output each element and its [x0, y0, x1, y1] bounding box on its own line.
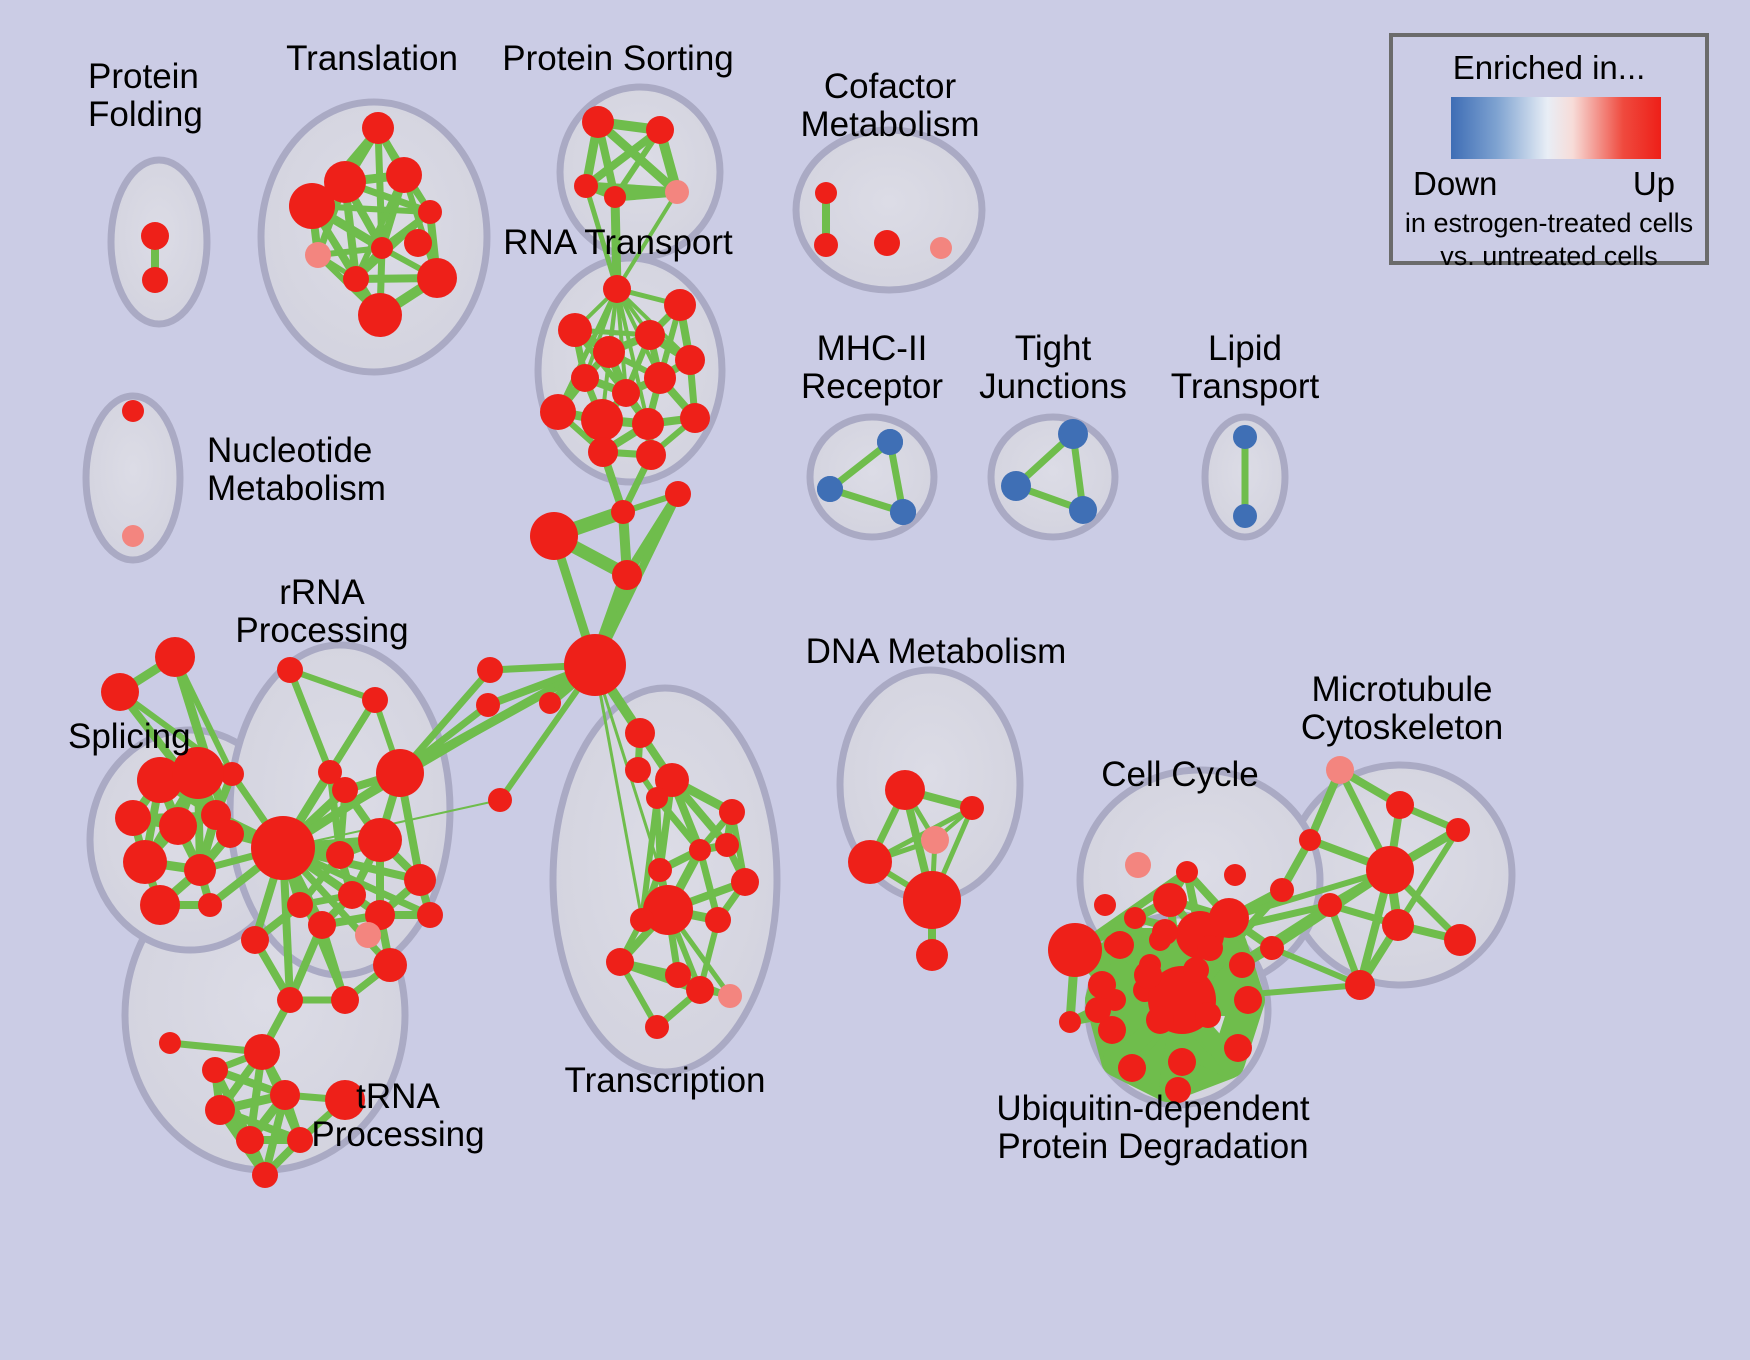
cluster-label-lipid-transport: Lipid Transport [1171, 330, 1319, 406]
cluster-label-rna-transport: RNA Transport [503, 224, 733, 262]
cluster-label-mhc-ii-receptor: MHC-II Receptor [801, 330, 943, 406]
cluster-label-transcription: Transcription [565, 1062, 766, 1100]
cluster-label-dna-metabolism: DNA Metabolism [806, 633, 1067, 671]
legend-up-label: Up [1633, 165, 1675, 203]
legend-box: Enriched in... Down Up in estrogen-treat… [1389, 33, 1709, 265]
cluster-label-microtubule: Microtubule Cytoskeleton [1301, 671, 1503, 747]
network-figure: .ell{fill:url(#cg);stroke:#aaaac4;stroke… [0, 0, 1750, 1360]
legend-subtitle: in estrogen-treated cells vs. untreated … [1393, 207, 1705, 273]
legend-subtitle-line1: in estrogen-treated cells [1393, 207, 1705, 240]
cluster-label-splicing: Splicing [68, 718, 191, 756]
cluster-label-protein-sorting: Protein Sorting [502, 40, 734, 78]
cluster-label-trna-processing: tRNA Processing [311, 1078, 484, 1154]
cluster-label-nucleotide-metabolism: Nucleotide Metabolism [207, 432, 386, 508]
cluster-label-translation: Translation [286, 40, 458, 78]
cluster-label-cofactor-metabolism: Cofactor Metabolism [801, 68, 980, 144]
color-scale-bar [1451, 97, 1661, 159]
cluster-label-rrna-processing: rRNA Processing [235, 574, 408, 650]
legend-down-label: Down [1413, 165, 1497, 203]
legend-title: Enriched in... [1393, 49, 1705, 87]
cluster-label-cell-cycle: Cell Cycle [1101, 756, 1259, 794]
cluster-label-protein-folding: Protein Folding [88, 58, 203, 134]
cluster-label-ubiquitin: Ubiquitin-dependent Protein Degradation [996, 1090, 1309, 1166]
legend-subtitle-line2: vs. untreated cells [1393, 240, 1705, 273]
cluster-label-tight-junctions: Tight Junctions [979, 330, 1127, 406]
